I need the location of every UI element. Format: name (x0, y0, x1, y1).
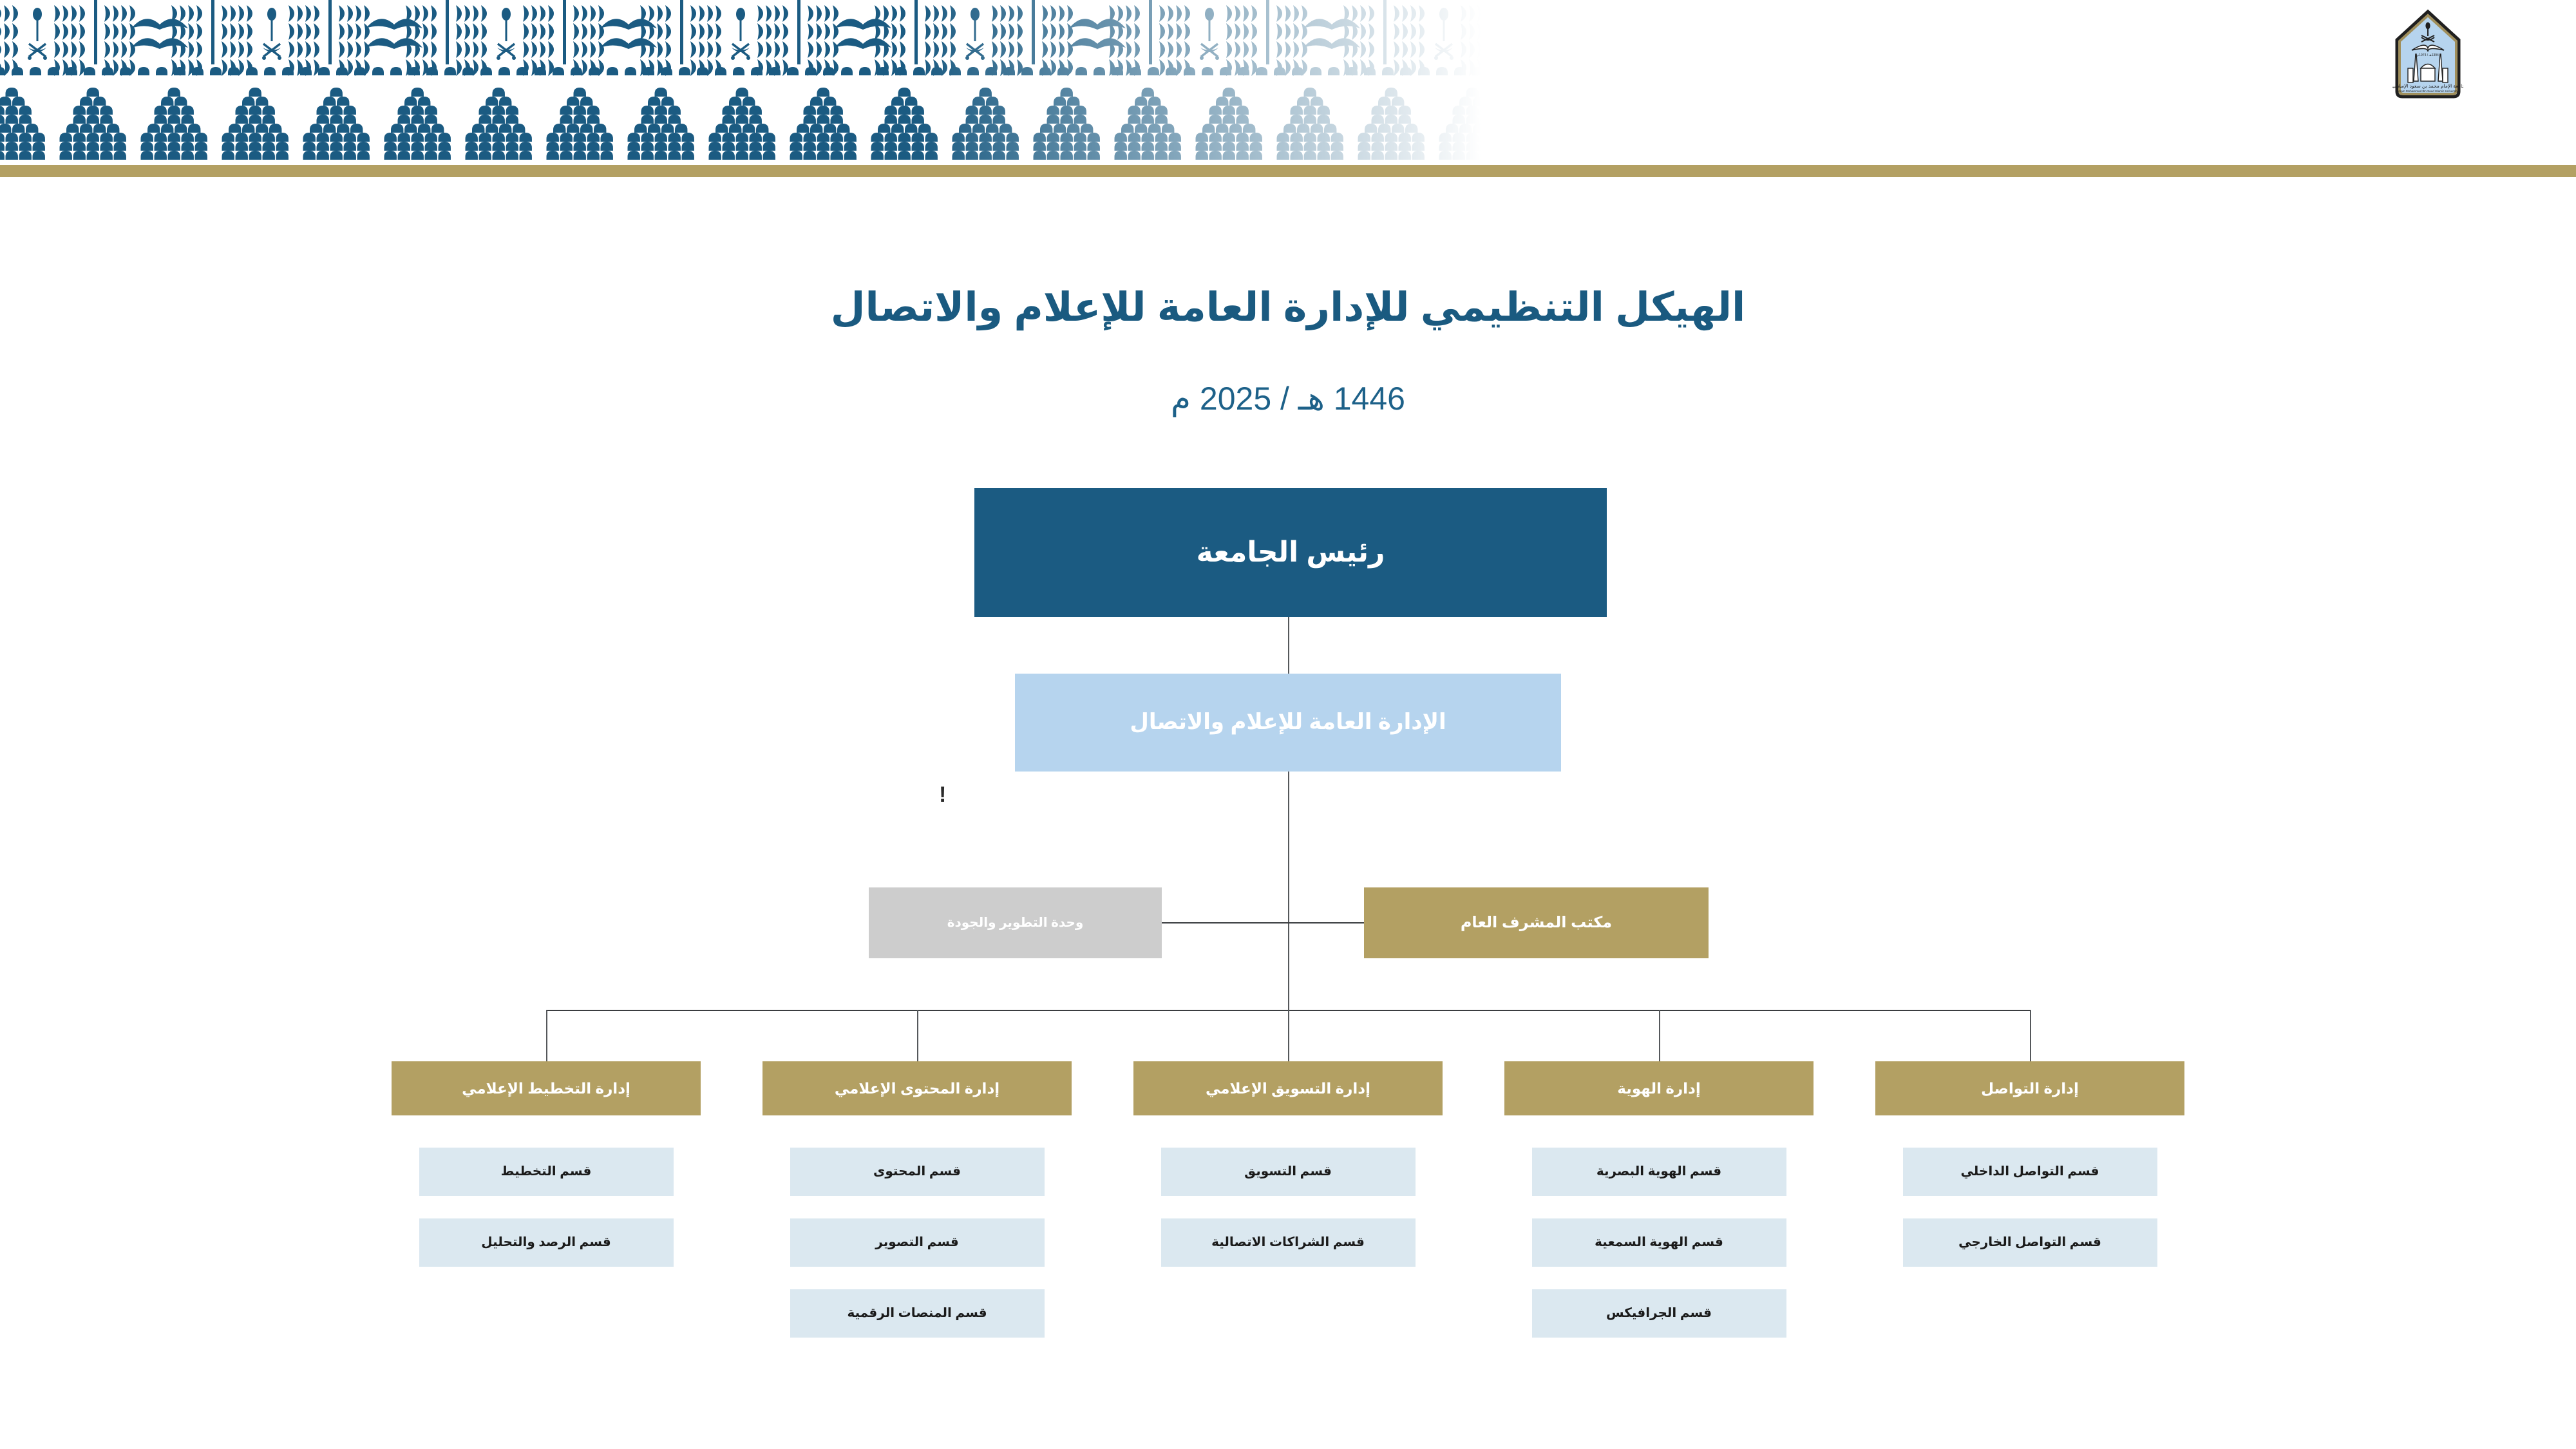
node-section-2-2[interactable]: قسم التصوير (790, 1218, 1045, 1267)
connector-side-branch-horizontal (1162, 922, 1364, 923)
node-section-4-2-label: قسم الهوية السمعية (1595, 1235, 1723, 1250)
node-section-2-1-label: قسم المحتوى (873, 1164, 961, 1179)
node-section-3-2[interactable]: قسم الشراكات الاتصالية (1161, 1218, 1416, 1267)
node-quality-unit-label: وحدة التطوير والجودة (947, 916, 1084, 931)
connector-bus-to-department-4 (1659, 1010, 1660, 1061)
node-section-3-1-label: قسم التسويق (1244, 1164, 1332, 1179)
node-supervisor-office-label: مكتب المشرف العام (1461, 914, 1612, 932)
node-general-administration[interactable]: الإدارة العامة للإعلام والاتصال (1015, 674, 1561, 772)
gold-rule-divider (0, 165, 2576, 177)
node-department-3[interactable]: إدارة التسويق الإعلامي (1133, 1061, 1443, 1115)
node-department-3-label: إدارة التسويق الإعلامي (1206, 1080, 1370, 1097)
node-section-5-2[interactable]: قسم التواصل الخارجي (1903, 1218, 2157, 1267)
svg-text:1394هـ / 1974م: 1394هـ / 1974م (2417, 53, 2439, 57)
node-section-4-1-label: قسم الهوية البصرية (1596, 1164, 1721, 1179)
node-section-3-2-label: قسم الشراكات الاتصالية (1211, 1235, 1365, 1250)
node-department-1[interactable]: إدارة التخطيط الإعلامي (392, 1061, 701, 1115)
org-chart-page: 1394هـ / 1974م جامعة الإمام محمد بن سعود… (0, 0, 2576, 1449)
node-section-2-3[interactable]: قسم المنصات الرقمية (790, 1289, 1045, 1338)
node-section-1-2-label: قسم الرصد والتحليل (481, 1235, 611, 1250)
connector-bus-to-department-5 (2030, 1010, 2031, 1061)
node-section-4-1[interactable]: قسم الهوية البصرية (1532, 1148, 1786, 1196)
connector-general-admin-trunk (1288, 772, 1289, 1010)
node-general-administration-label: الإدارة العامة للإعلام والاتصال (1130, 710, 1446, 735)
node-department-5[interactable]: إدارة التواصل (1875, 1061, 2184, 1115)
node-section-4-2[interactable]: قسم الهوية السمعية (1532, 1218, 1786, 1267)
node-section-4-3-label: قسم الجرافيكس (1606, 1306, 1712, 1321)
page-subtitle: 1446 هـ / 2025 م (0, 380, 2576, 417)
node-quality-unit[interactable]: وحدة التطوير والجودة (869, 887, 1162, 958)
node-section-1-2[interactable]: قسم الرصد والتحليل (419, 1218, 674, 1267)
university-logo-icon: 1394هـ / 1974م جامعة الإمام محمد بن سعود… (2392, 9, 2463, 99)
node-section-4-3[interactable]: قسم الجرافيكس (1532, 1289, 1786, 1338)
node-section-2-3-label: قسم المنصات الرقمية (847, 1306, 987, 1321)
node-supervisor-office[interactable]: مكتب المشرف العام (1364, 887, 1709, 958)
connector-bus-to-department-2 (917, 1010, 918, 1061)
page-title: الهيكل التنظيمي للإدارة العامة للإعلام و… (0, 283, 2576, 330)
node-department-2[interactable]: إدارة المحتوى الإعلامي (762, 1061, 1072, 1115)
node-section-3-1[interactable]: قسم التسويق (1161, 1148, 1416, 1196)
node-section-1-1[interactable]: قسم التخطيط (419, 1148, 674, 1196)
svg-text:Imam Mohammad Ibn Saud Islamic: Imam Mohammad Ibn Saud Islamic Universit… (2398, 90, 2458, 93)
svg-text:جامعة الإمام محمد بن سعود الإس: جامعة الإمام محمد بن سعود الإسلامية (2392, 83, 2463, 89)
node-department-4[interactable]: إدارة الهوية (1504, 1061, 1814, 1115)
node-department-2-label: إدارة المحتوى الإعلامي (835, 1080, 999, 1097)
connector-bus-to-department-3 (1288, 1010, 1289, 1061)
node-section-1-1-label: قسم التخطيط (501, 1164, 592, 1179)
node-section-2-2-label: قسم التصوير (875, 1235, 958, 1250)
stray-exclamation-artifact: ! (939, 782, 946, 808)
connector-bus-to-department-1 (546, 1010, 547, 1061)
node-section-2-1[interactable]: قسم المحتوى (790, 1148, 1045, 1196)
node-department-1-label: إدارة التخطيط الإعلامي (462, 1080, 630, 1097)
node-section-5-1[interactable]: قسم التواصل الداخلي (1903, 1148, 2157, 1196)
saudi-heritage-pattern-icon (0, 0, 1481, 161)
header-banner: 1394هـ / 1974م جامعة الإمام محمد بن سعود… (0, 0, 2576, 177)
node-department-4-label: إدارة الهوية (1617, 1080, 1701, 1097)
node-president[interactable]: رئيس الجامعة (974, 488, 1607, 617)
node-section-5-2-label: قسم التواصل الخارجي (1958, 1235, 2101, 1250)
node-department-5-label: إدارة التواصل (1981, 1080, 2079, 1097)
node-section-5-1-label: قسم التواصل الداخلي (1961, 1164, 2099, 1179)
node-president-label: رئيس الجامعة (1197, 536, 1385, 569)
